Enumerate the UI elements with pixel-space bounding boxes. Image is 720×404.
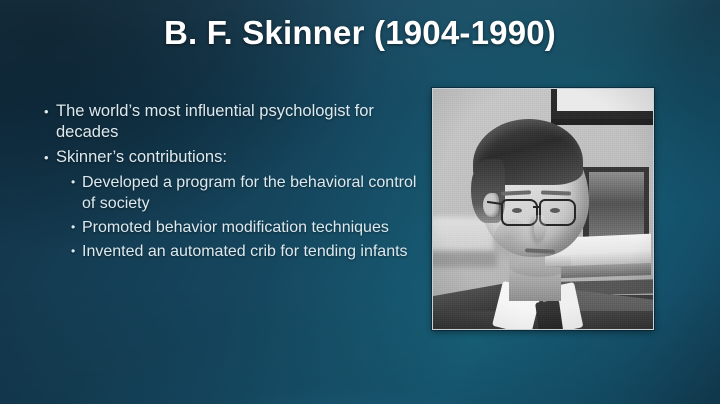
bullet-marker-icon: •: [71, 172, 82, 193]
portrait-photo-canvas: [433, 89, 653, 329]
bullet-item: • Invented an automated crib for tending…: [38, 241, 423, 262]
bullet-text: Invented an automated crib for tending i…: [82, 241, 423, 262]
bullet-text: Developed a program for the behavioral c…: [82, 172, 423, 214]
bullet-item: • The world’s most influential psycholog…: [38, 101, 423, 143]
bullet-item: • Promoted behavior modification techniq…: [38, 217, 423, 238]
bullet-marker-icon: •: [44, 147, 56, 168]
bullet-text: The world’s most influential psychologis…: [56, 101, 423, 143]
photo-vignette: [433, 89, 653, 329]
bullet-marker-icon: •: [71, 241, 82, 262]
presentation-slide: B. F. Skinner (1904-1990) • The world’s …: [0, 0, 720, 404]
slide-body-bullet-list: • The world’s most influential psycholog…: [38, 101, 423, 265]
portrait-photo: [432, 88, 654, 330]
bullet-item: • Developed a program for the behavioral…: [38, 172, 423, 214]
bullet-marker-icon: •: [71, 217, 82, 238]
bullet-item: • Skinner’s contributions:: [38, 147, 423, 168]
slide-title: B. F. Skinner (1904-1990): [0, 14, 720, 52]
bullet-text: Promoted behavior modification technique…: [82, 217, 423, 238]
bullet-marker-icon: •: [44, 101, 56, 122]
bullet-text: Skinner’s contributions:: [56, 147, 423, 168]
